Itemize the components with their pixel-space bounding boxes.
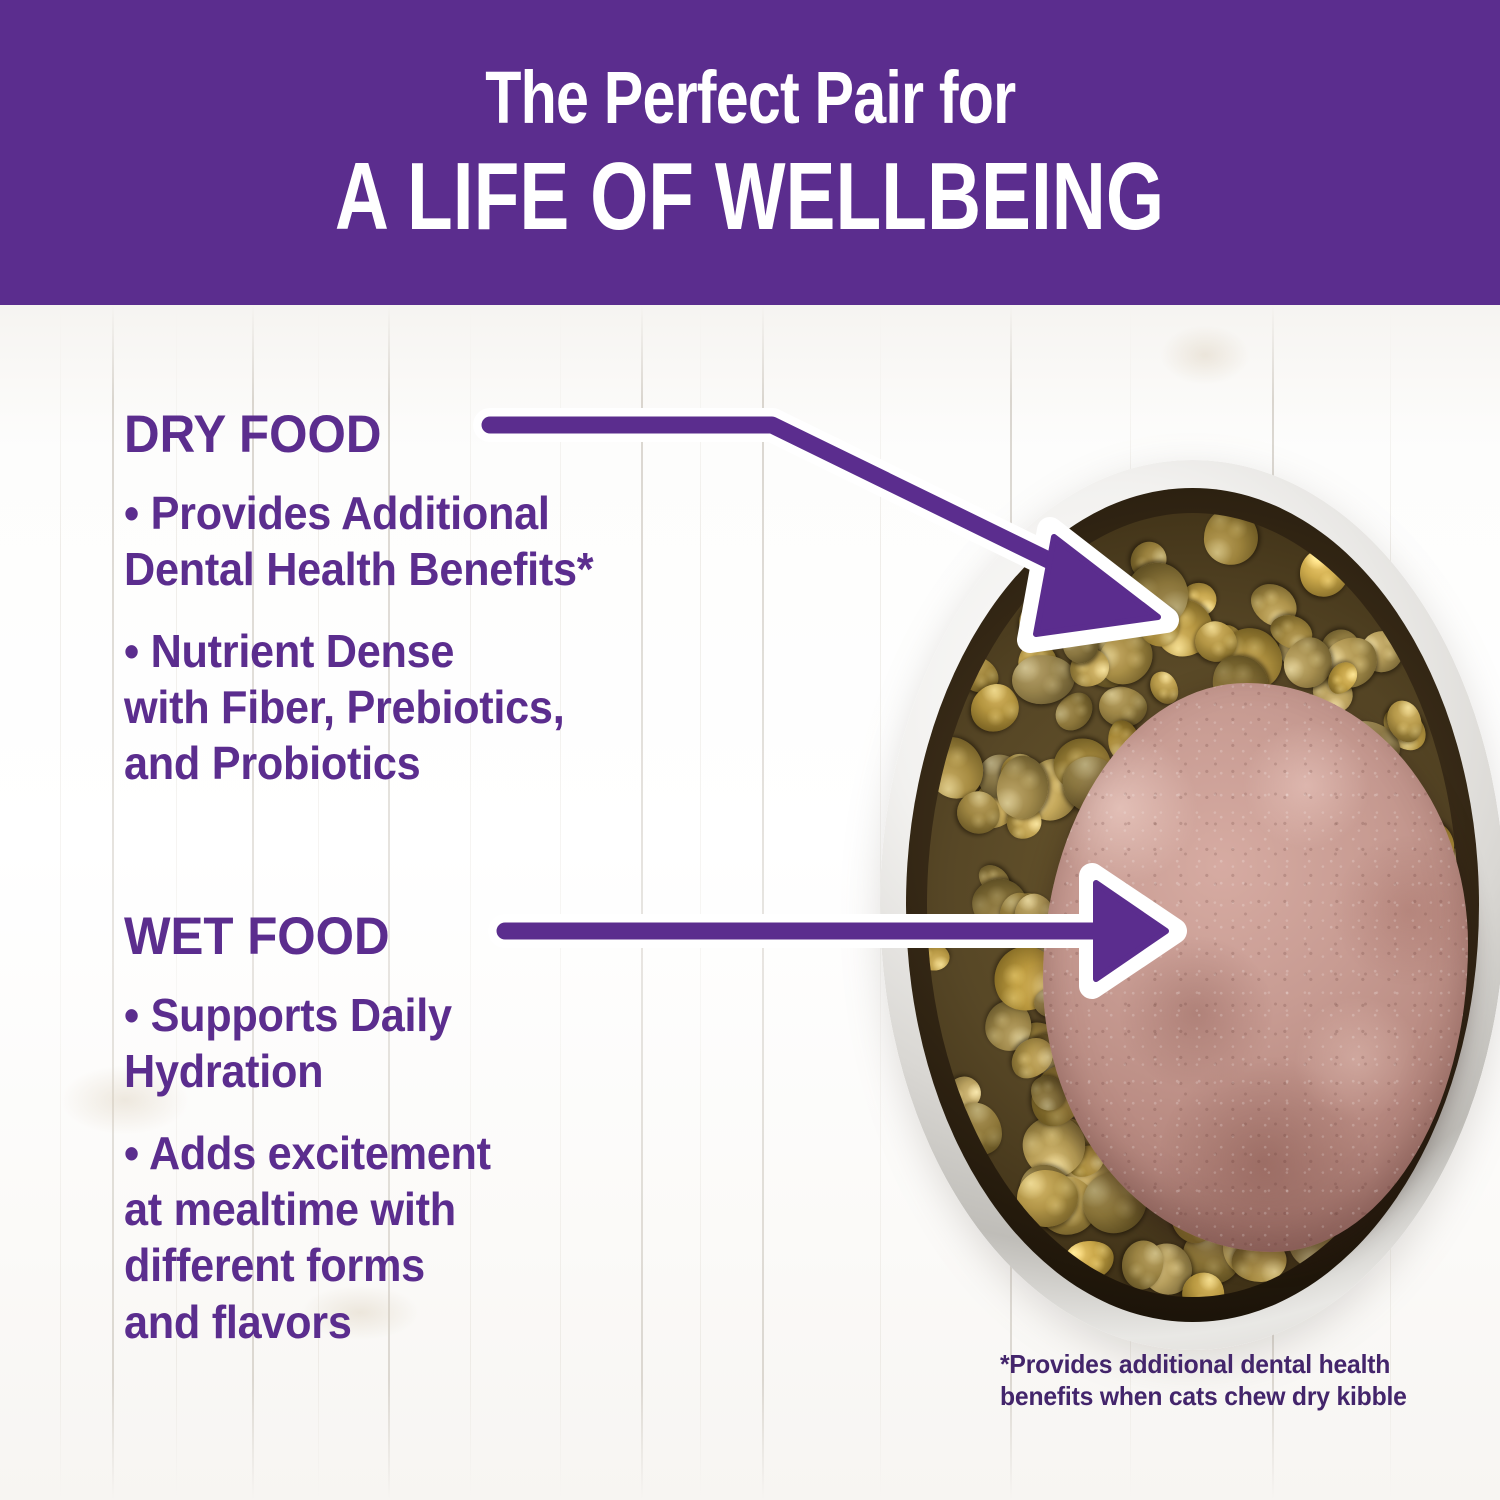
kibble-piece xyxy=(927,941,951,971)
kibble-piece xyxy=(1203,513,1258,565)
footnote-disclaimer: *Provides additional dental health benef… xyxy=(1000,1348,1428,1412)
pet-food-bowl-photo xyxy=(880,460,1500,1350)
bullet-list-dry-food: • Provides Additional Dental Health Bene… xyxy=(124,485,814,818)
wood-smudge xyxy=(1160,325,1250,385)
header-banner: The Perfect Pair for A LIFE OF WELLBEING xyxy=(0,0,1500,305)
bullet-item: • Adds excitement at mealtime with diffe… xyxy=(124,1125,773,1349)
bullet-item: • Supports Daily Hydration xyxy=(124,987,773,1099)
section-title-wet-food: WET FOOD xyxy=(124,906,390,967)
wet-food-pate xyxy=(1043,683,1468,1253)
header-title: A LIFE OF WELLBEING xyxy=(335,149,1164,245)
wood-grain-line xyxy=(60,305,61,1500)
section-title-dry-food: DRY FOOD xyxy=(124,404,381,465)
bullet-item: • Provides Additional Dental Health Bene… xyxy=(124,485,773,597)
bullet-list-wet-food: • Supports Daily Hydration • Adds excite… xyxy=(124,987,814,1376)
bullet-item: • Nutrient Dense with Fiber, Prebiotics,… xyxy=(124,623,773,791)
marketing-infographic: The Perfect Pair for A LIFE OF WELLBEING… xyxy=(0,0,1500,1500)
plank-seam xyxy=(112,305,114,1500)
bowl xyxy=(880,460,1500,1350)
header-line-1: The Perfect Pair for xyxy=(485,61,1015,135)
